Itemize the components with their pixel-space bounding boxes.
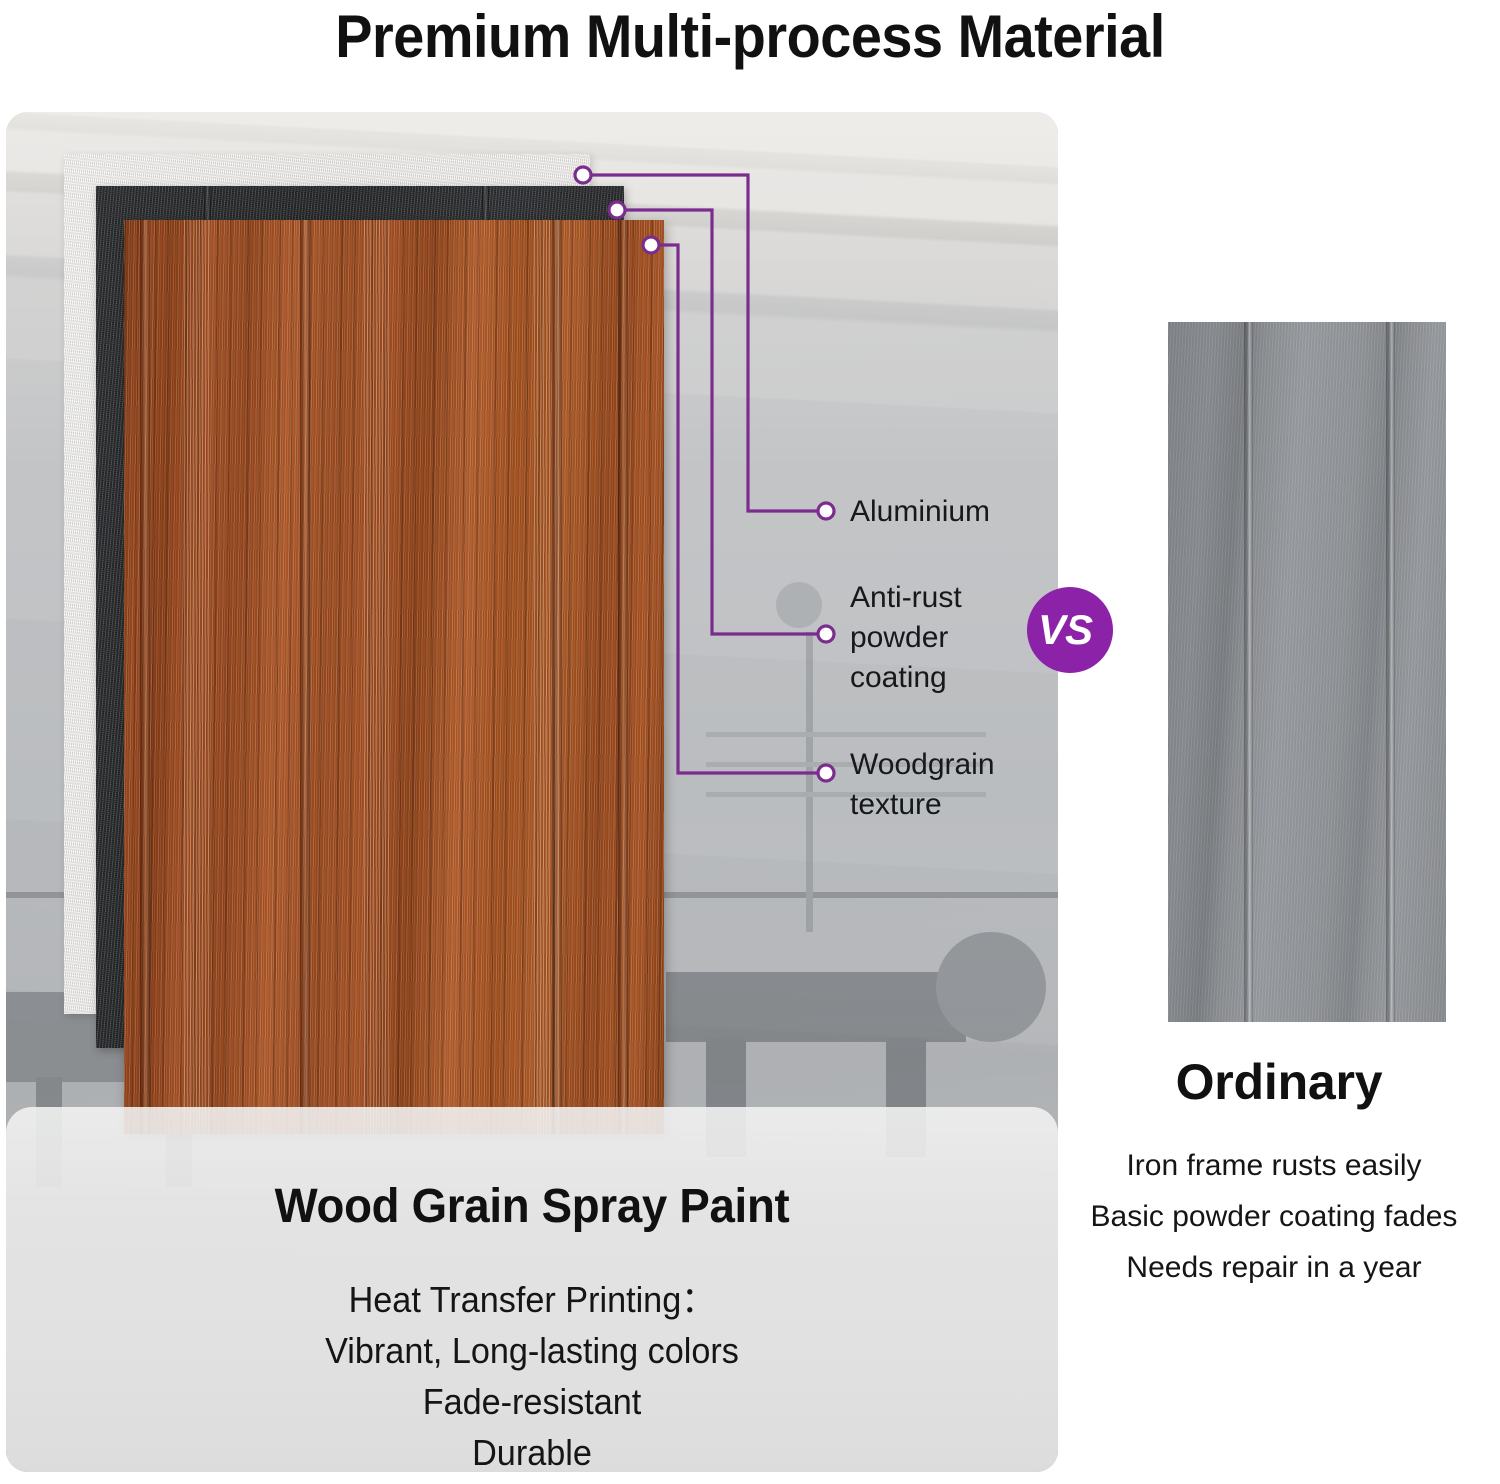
page-title: Premium Multi-process Material — [53, 2, 1448, 71]
ordinary-title: Ordinary — [1058, 1053, 1500, 1111]
callout-label-antirust: Anti-rust powder coating — [850, 578, 962, 698]
vs-badge: V S VS — [1027, 587, 1113, 673]
premium-caption-title: Wood Grain Spray Paint — [32, 1107, 1031, 1234]
ordinary-drawbacks: Iron frame rusts easily Basic powder coa… — [1048, 1140, 1500, 1293]
callout-label-woodgrain: Woodgrain texture — [850, 745, 995, 825]
vs-badge-glyph: V S — [1038, 607, 1102, 653]
callout-label-aluminium: Aluminium — [850, 492, 990, 532]
premium-caption-card: Wood Grain Spray Paint Heat Transfer Pri… — [6, 1107, 1058, 1472]
woodgrain-texture-layer — [124, 220, 664, 1134]
premium-caption-features: Heat Transfer Printing： Vibrant, Long-la… — [32, 1234, 1031, 1472]
ordinary-product-panel — [1168, 322, 1446, 1022]
